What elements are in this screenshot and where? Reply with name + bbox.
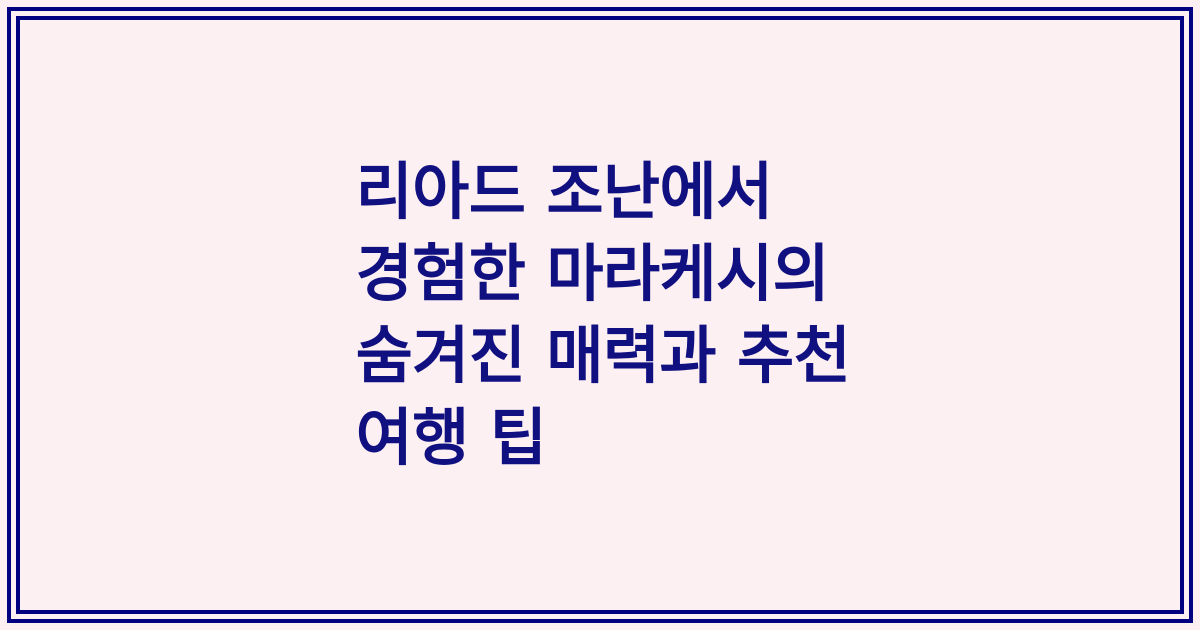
banner-title-line-1: 리아드 조난에서	[356, 151, 851, 233]
banner-title-line-3: 숨겨진 매력과 추천	[356, 315, 851, 397]
banner-title-line-2: 경험한 마라케시의	[356, 233, 851, 315]
banner-card: 리아드 조난에서 경험한 마라케시의 숨겨진 매력과 추천 여행 팁	[0, 0, 1200, 630]
banner-title-line-4: 여행 팁	[356, 397, 851, 479]
banner-title: 리아드 조난에서 경험한 마라케시의 숨겨진 매력과 추천 여행 팁	[356, 151, 851, 479]
banner-content: 리아드 조난에서 경험한 마라케시의 숨겨진 매력과 추천 여행 팁	[20, 20, 1180, 610]
